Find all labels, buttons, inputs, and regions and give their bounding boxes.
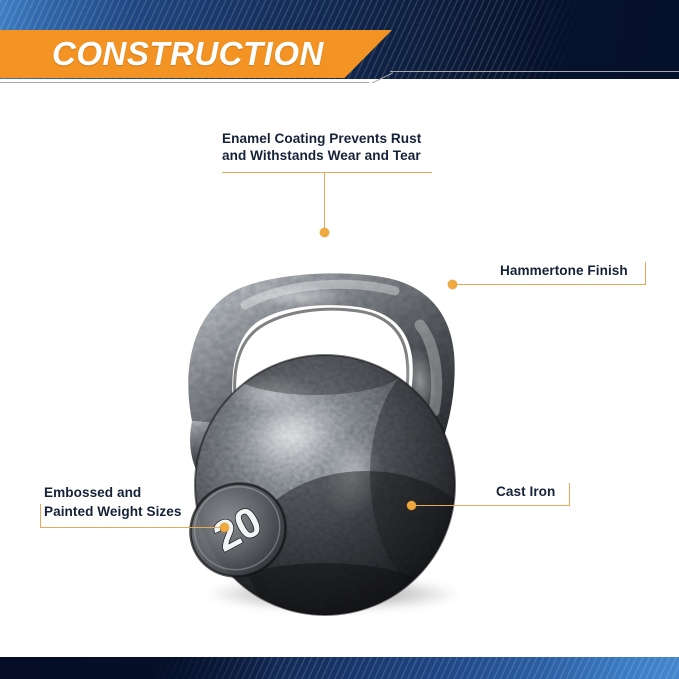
- callout-embossed-weight-sizes-dot: [220, 523, 229, 532]
- header-rule-right: [390, 71, 679, 72]
- callout-embossed-weight-sizes-line2: Painted Weight Sizes: [44, 503, 244, 521]
- page-footer: [0, 657, 679, 679]
- callout-embossed-weight-sizes-tick: [40, 504, 41, 528]
- callout-hammertone-finish-underline: [496, 284, 646, 285]
- callout-enamel-coating-underline: [222, 172, 432, 173]
- callout-embossed-weight-sizes-line1: Embossed and: [44, 484, 244, 502]
- callout-enamel-coating-line2: and Withstands Wear and Tear: [222, 147, 437, 165]
- callout-cast-iron-line1: Cast Iron: [496, 483, 596, 501]
- callout-hammertone-finish-leader: [455, 284, 500, 285]
- infographic-page: CONSTRUCTION: [0, 0, 679, 679]
- footer-dark-wedge: [0, 657, 275, 679]
- callout-hammertone-finish-tick: [645, 262, 646, 285]
- page-header: CONSTRUCTION: [0, 0, 679, 84]
- kettlebell-illustration: 20: [120, 185, 520, 625]
- callout-embossed-weight-sizes-underline: [40, 527, 226, 528]
- callout-cast-iron-underline: [412, 505, 570, 506]
- header-rule-left: [0, 82, 369, 83]
- page-title: CONSTRUCTION: [52, 30, 324, 78]
- callout-enamel-coating-line1: Enamel Coating Prevents Rust: [222, 130, 437, 148]
- header-dark-wedge: [499, 0, 679, 79]
- callout-cast-iron-tick: [569, 483, 570, 506]
- callout-enamel-coating-leader: [324, 172, 325, 232]
- callout-enamel-coating-dot: [320, 228, 329, 237]
- callout-cast-iron-dot: [407, 501, 416, 510]
- kettlebell-product-image: 20: [120, 185, 520, 625]
- callout-hammertone-finish-dot: [448, 280, 457, 289]
- callout-hammertone-finish-line1: Hammertone Finish: [500, 262, 650, 280]
